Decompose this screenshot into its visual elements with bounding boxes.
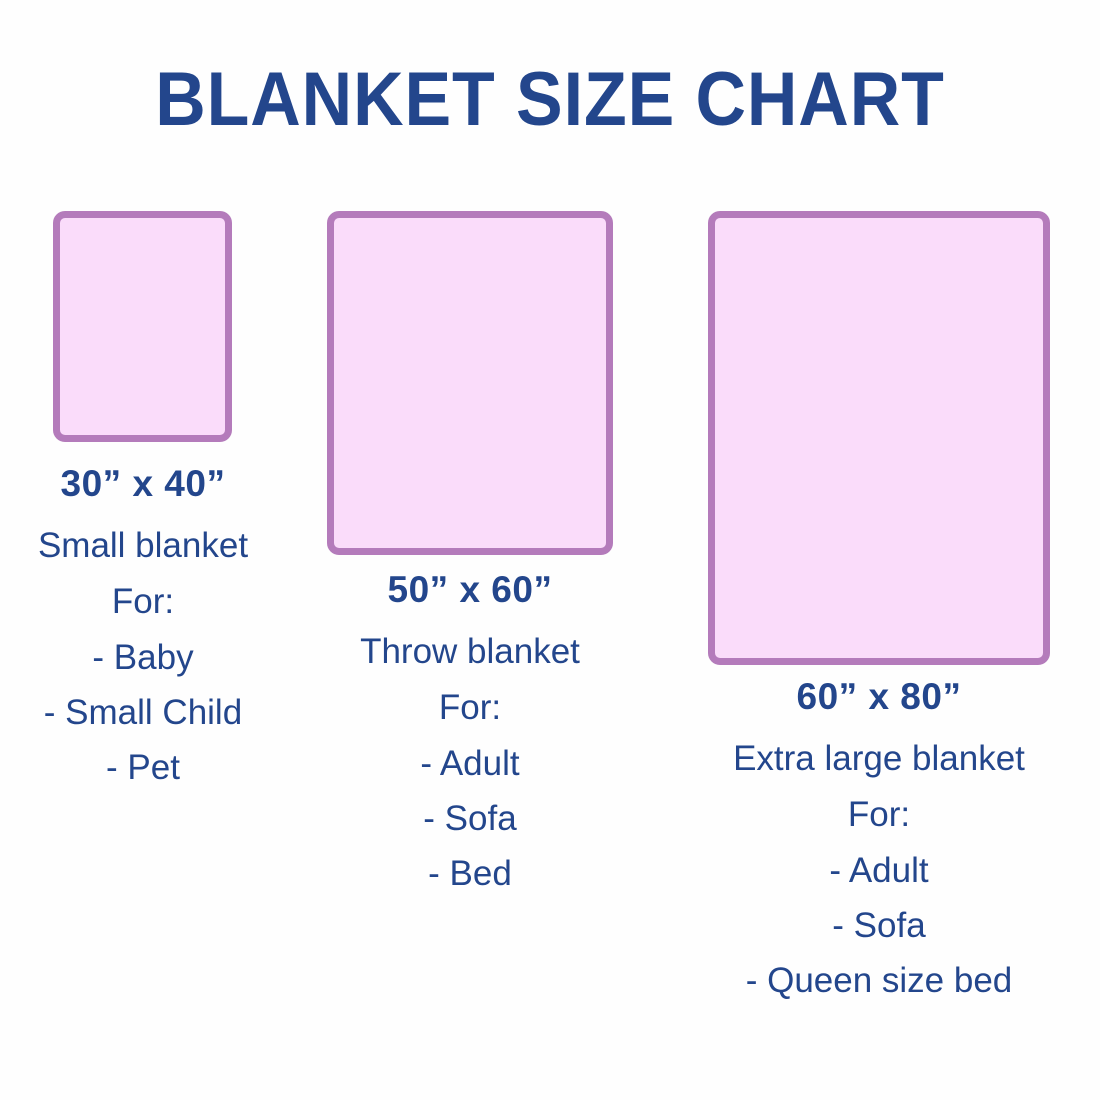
blanket-swatch-small	[53, 211, 232, 442]
size-dimensions-throw: 50” x 60”	[270, 568, 670, 612]
blanket-name-small: Small blanket	[0, 518, 343, 574]
page-title: BLANKET SIZE CHART	[44, 57, 1056, 143]
spacer	[0, 506, 343, 518]
blanket-swatch-throw	[327, 211, 613, 555]
list-item: - Queen size bed	[659, 953, 1099, 1008]
blanket-swatch-xlarge	[708, 211, 1050, 665]
spacer	[270, 612, 670, 624]
size-info-xlarge: 60” x 80” Extra large blanket For: - Adu…	[659, 675, 1099, 1008]
list-item: - Adult	[659, 843, 1099, 898]
list-item: - Sofa	[659, 898, 1099, 953]
blanket-name-throw: Throw blanket	[270, 624, 670, 680]
for-label-xlarge: For:	[659, 787, 1099, 843]
size-dimensions-small: 30” x 40”	[0, 462, 343, 506]
list-item: - Bed	[270, 846, 670, 901]
for-label-throw: For:	[270, 680, 670, 736]
blanket-size-chart: BLANKET SIZE CHART 30” x 40” Small blank…	[0, 0, 1100, 1100]
size-info-throw: 50” x 60” Throw blanket For: - Adult - S…	[270, 568, 670, 901]
size-dimensions-xlarge: 60” x 80”	[659, 675, 1099, 719]
list-item: - Sofa	[270, 791, 670, 846]
list-item: - Adult	[270, 736, 670, 791]
spacer	[659, 719, 1099, 731]
use-list-throw: - Adult - Sofa - Bed	[270, 736, 670, 901]
use-list-xlarge: - Adult - Sofa - Queen size bed	[659, 843, 1099, 1008]
blanket-name-xlarge: Extra large blanket	[659, 731, 1099, 787]
